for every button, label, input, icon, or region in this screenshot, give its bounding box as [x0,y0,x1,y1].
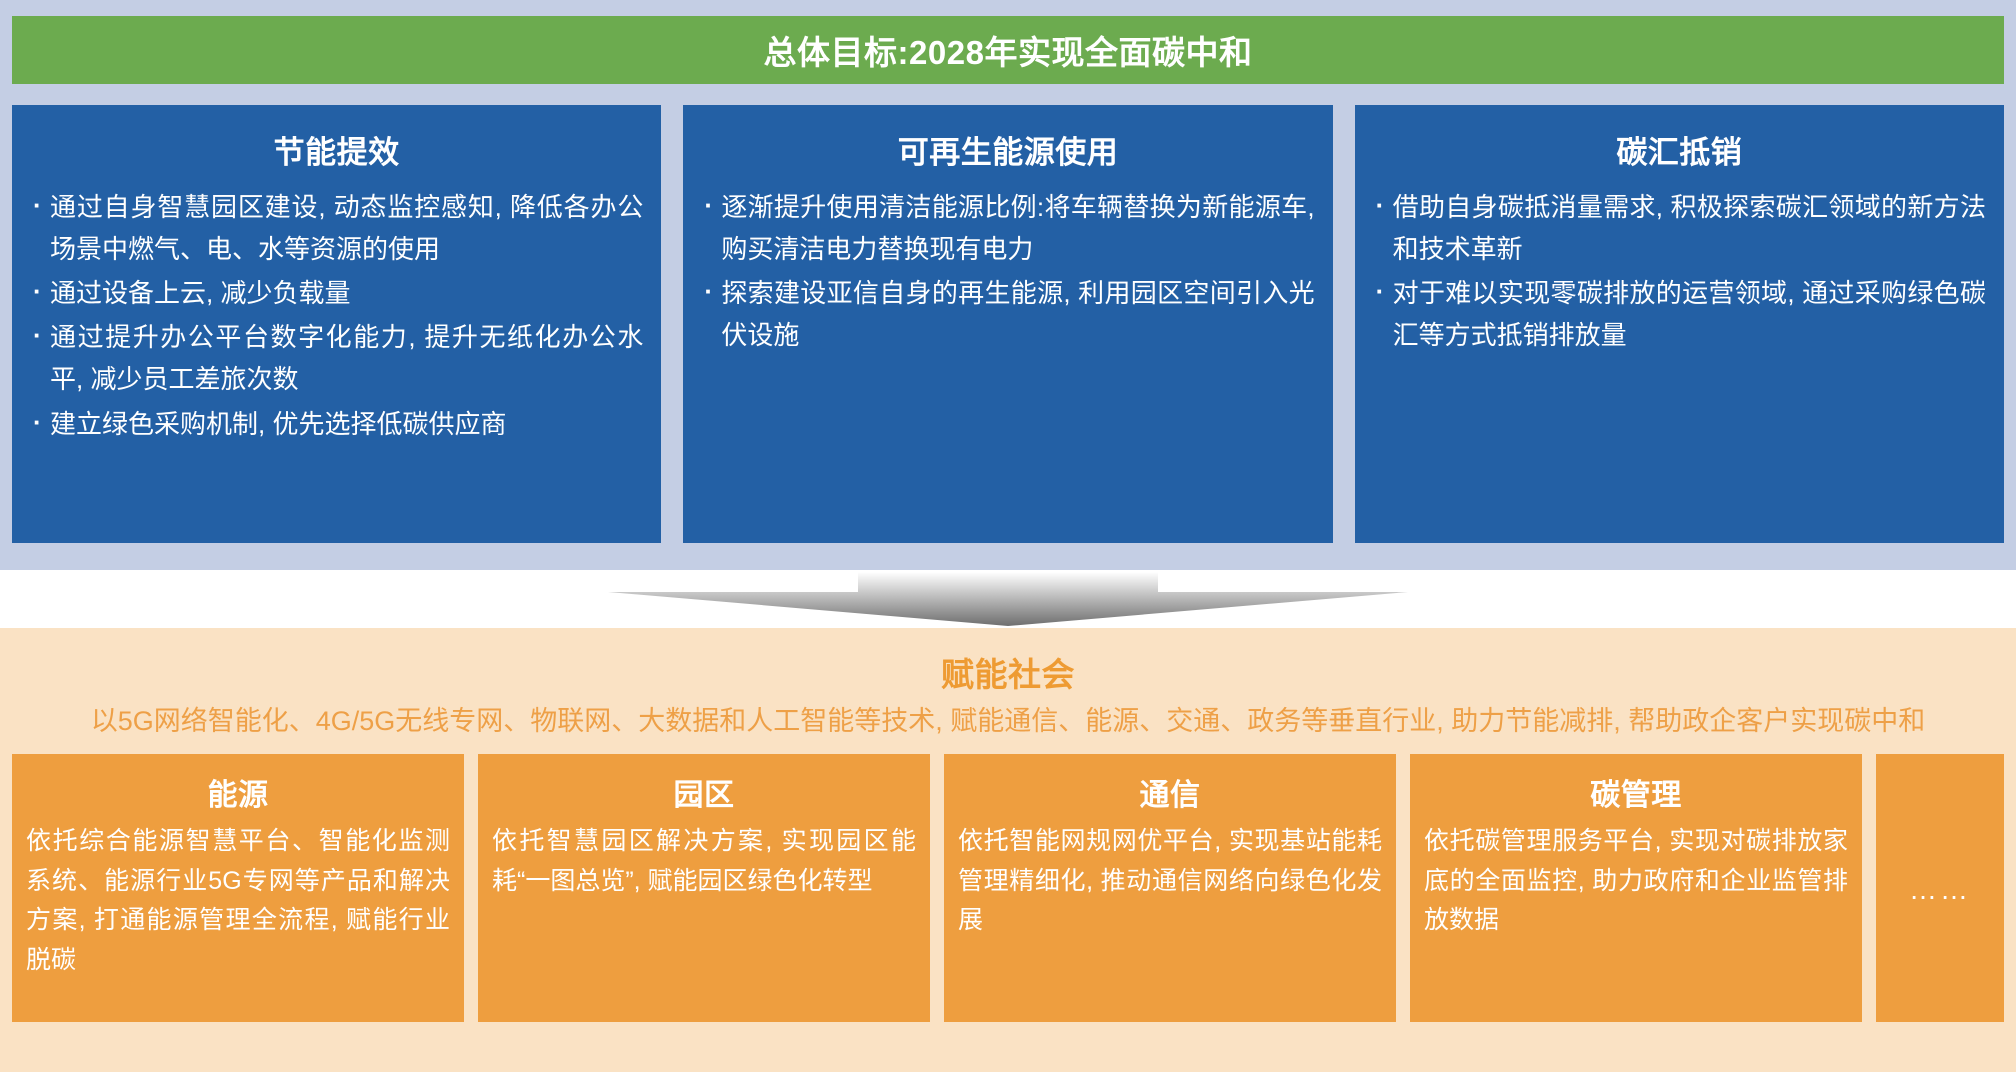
sector-title: 通信 [958,770,1382,814]
sector-body: 依托综合能源智慧平台、智能化监测系统、能源行业5G专网等产品和解决方案, 打通能… [26,822,450,980]
sector-title: 能源 [26,770,450,814]
list-item: 建立绿色采购机制, 优先选择低碳供应商 [30,403,643,445]
sector-card-park: 园区 依托智慧园区解决方案, 实现园区能耗“一图总览”, 赋能园区绿色化转型 [478,754,930,1022]
pillar-row: 节能提效 通过自身智慧园区建设, 动态监控感知, 降低各办公场景中燃气、电、水等… [12,105,2004,543]
sector-body: 依托智慧园区解决方案, 实现园区能耗“一图总览”, 赋能园区绿色化转型 [492,822,916,901]
list-item: 逐渐提升使用清洁能源比例:将车辆替换为新能源车, 购买清洁电力替换现有电力 [701,186,1314,270]
down-arrow-icon [608,572,1408,626]
sector-title: 碳管理 [1424,770,1848,814]
enable-society-section: 赋能社会 以5G网络智能化、4G/5G无线专网、物联网、大数据和人工智能等技术,… [0,628,2016,1072]
sector-card-more: …… [1876,754,2004,1022]
pillar-bullet-list: 通过自身智慧园区建设, 动态监控感知, 降低各办公场景中燃气、电、水等资源的使用… [30,186,643,445]
pillar-bullet-list: 借助自身碳抵消量需求, 积极探索碳汇领域的新方法和技术革新 对于难以实现零碳排放… [1373,186,1986,356]
pillar-bullet-list: 逐渐提升使用清洁能源比例:将车辆替换为新能源车, 购买清洁电力替换现有电力 探索… [701,186,1314,356]
more-ellipsis: …… [1909,874,1971,906]
pillar-title: 节能提效 [30,127,643,172]
sector-card-energy: 能源 依托综合能源智慧平台、智能化监测系统、能源行业5G专网等产品和解决方案, … [12,754,464,1022]
pillar-card-energy-saving: 节能提效 通过自身智慧园区建设, 动态监控感知, 降低各办公场景中燃气、电、水等… [12,105,661,543]
pillar-card-carbon-offset: 碳汇抵销 借助自身碳抵消量需求, 积极探索碳汇领域的新方法和技术革新 对于难以实… [1355,105,2004,543]
list-item: 借助自身碳抵消量需求, 积极探索碳汇领域的新方法和技术革新 [1373,186,1986,270]
sector-card-communication: 通信 依托智能网规网优平台, 实现基站能耗管理精细化, 推动通信网络向绿色化发展 [944,754,1396,1022]
list-item: 通过自身智慧园区建设, 动态监控感知, 降低各办公场景中燃气、电、水等资源的使用 [30,186,643,270]
pillar-card-renewable-energy: 可再生能源使用 逐渐提升使用清洁能源比例:将车辆替换为新能源车, 购买清洁电力替… [683,105,1332,543]
list-item: 通过设备上云, 减少负载量 [30,272,643,314]
sector-card-row: 能源 依托综合能源智慧平台、智能化监测系统、能源行业5G专网等产品和解决方案, … [12,754,2004,1022]
overall-goal-text: 总体目标:2028年实现全面碳中和 [764,26,1253,74]
carbon-neutral-strategy-section: 总体目标:2028年实现全面碳中和 节能提效 通过自身智慧园区建设, 动态监控感… [0,0,2016,570]
sector-card-carbon-management: 碳管理 依托碳管理服务平台, 实现对碳排放家底的全面监控, 助力政府和企业监管排… [1410,754,1862,1022]
enable-society-title: 赋能社会 [12,648,2004,696]
slide-root: 总体目标:2028年实现全面碳中和 节能提效 通过自身智慧园区建设, 动态监控感… [0,0,2016,1072]
list-item: 对于难以实现零碳排放的运营领域, 通过采购绿色碳汇等方式抵销排放量 [1373,272,1986,356]
list-item: 探索建设亚信自身的再生能源, 利用园区空间引入光伏设施 [701,272,1314,356]
sector-body: 依托智能网规网优平台, 实现基站能耗管理精细化, 推动通信网络向绿色化发展 [958,822,1382,941]
enable-society-description: 以5G网络智能化、4G/5G无线专网、物联网、大数据和人工智能等技术, 赋能通信… [12,702,2004,740]
sector-title: 园区 [492,770,916,814]
pillar-title: 碳汇抵销 [1373,127,1986,172]
sector-body: 依托碳管理服务平台, 实现对碳排放家底的全面监控, 助力政府和企业监管排放数据 [1424,822,1848,941]
pillar-title: 可再生能源使用 [701,127,1314,172]
overall-goal-banner: 总体目标:2028年实现全面碳中和 [12,16,2004,84]
list-item: 通过提升办公平台数字化能力, 提升无纸化办公水平, 减少员工差旅次数 [30,316,643,400]
arrow-zone [0,570,2016,628]
